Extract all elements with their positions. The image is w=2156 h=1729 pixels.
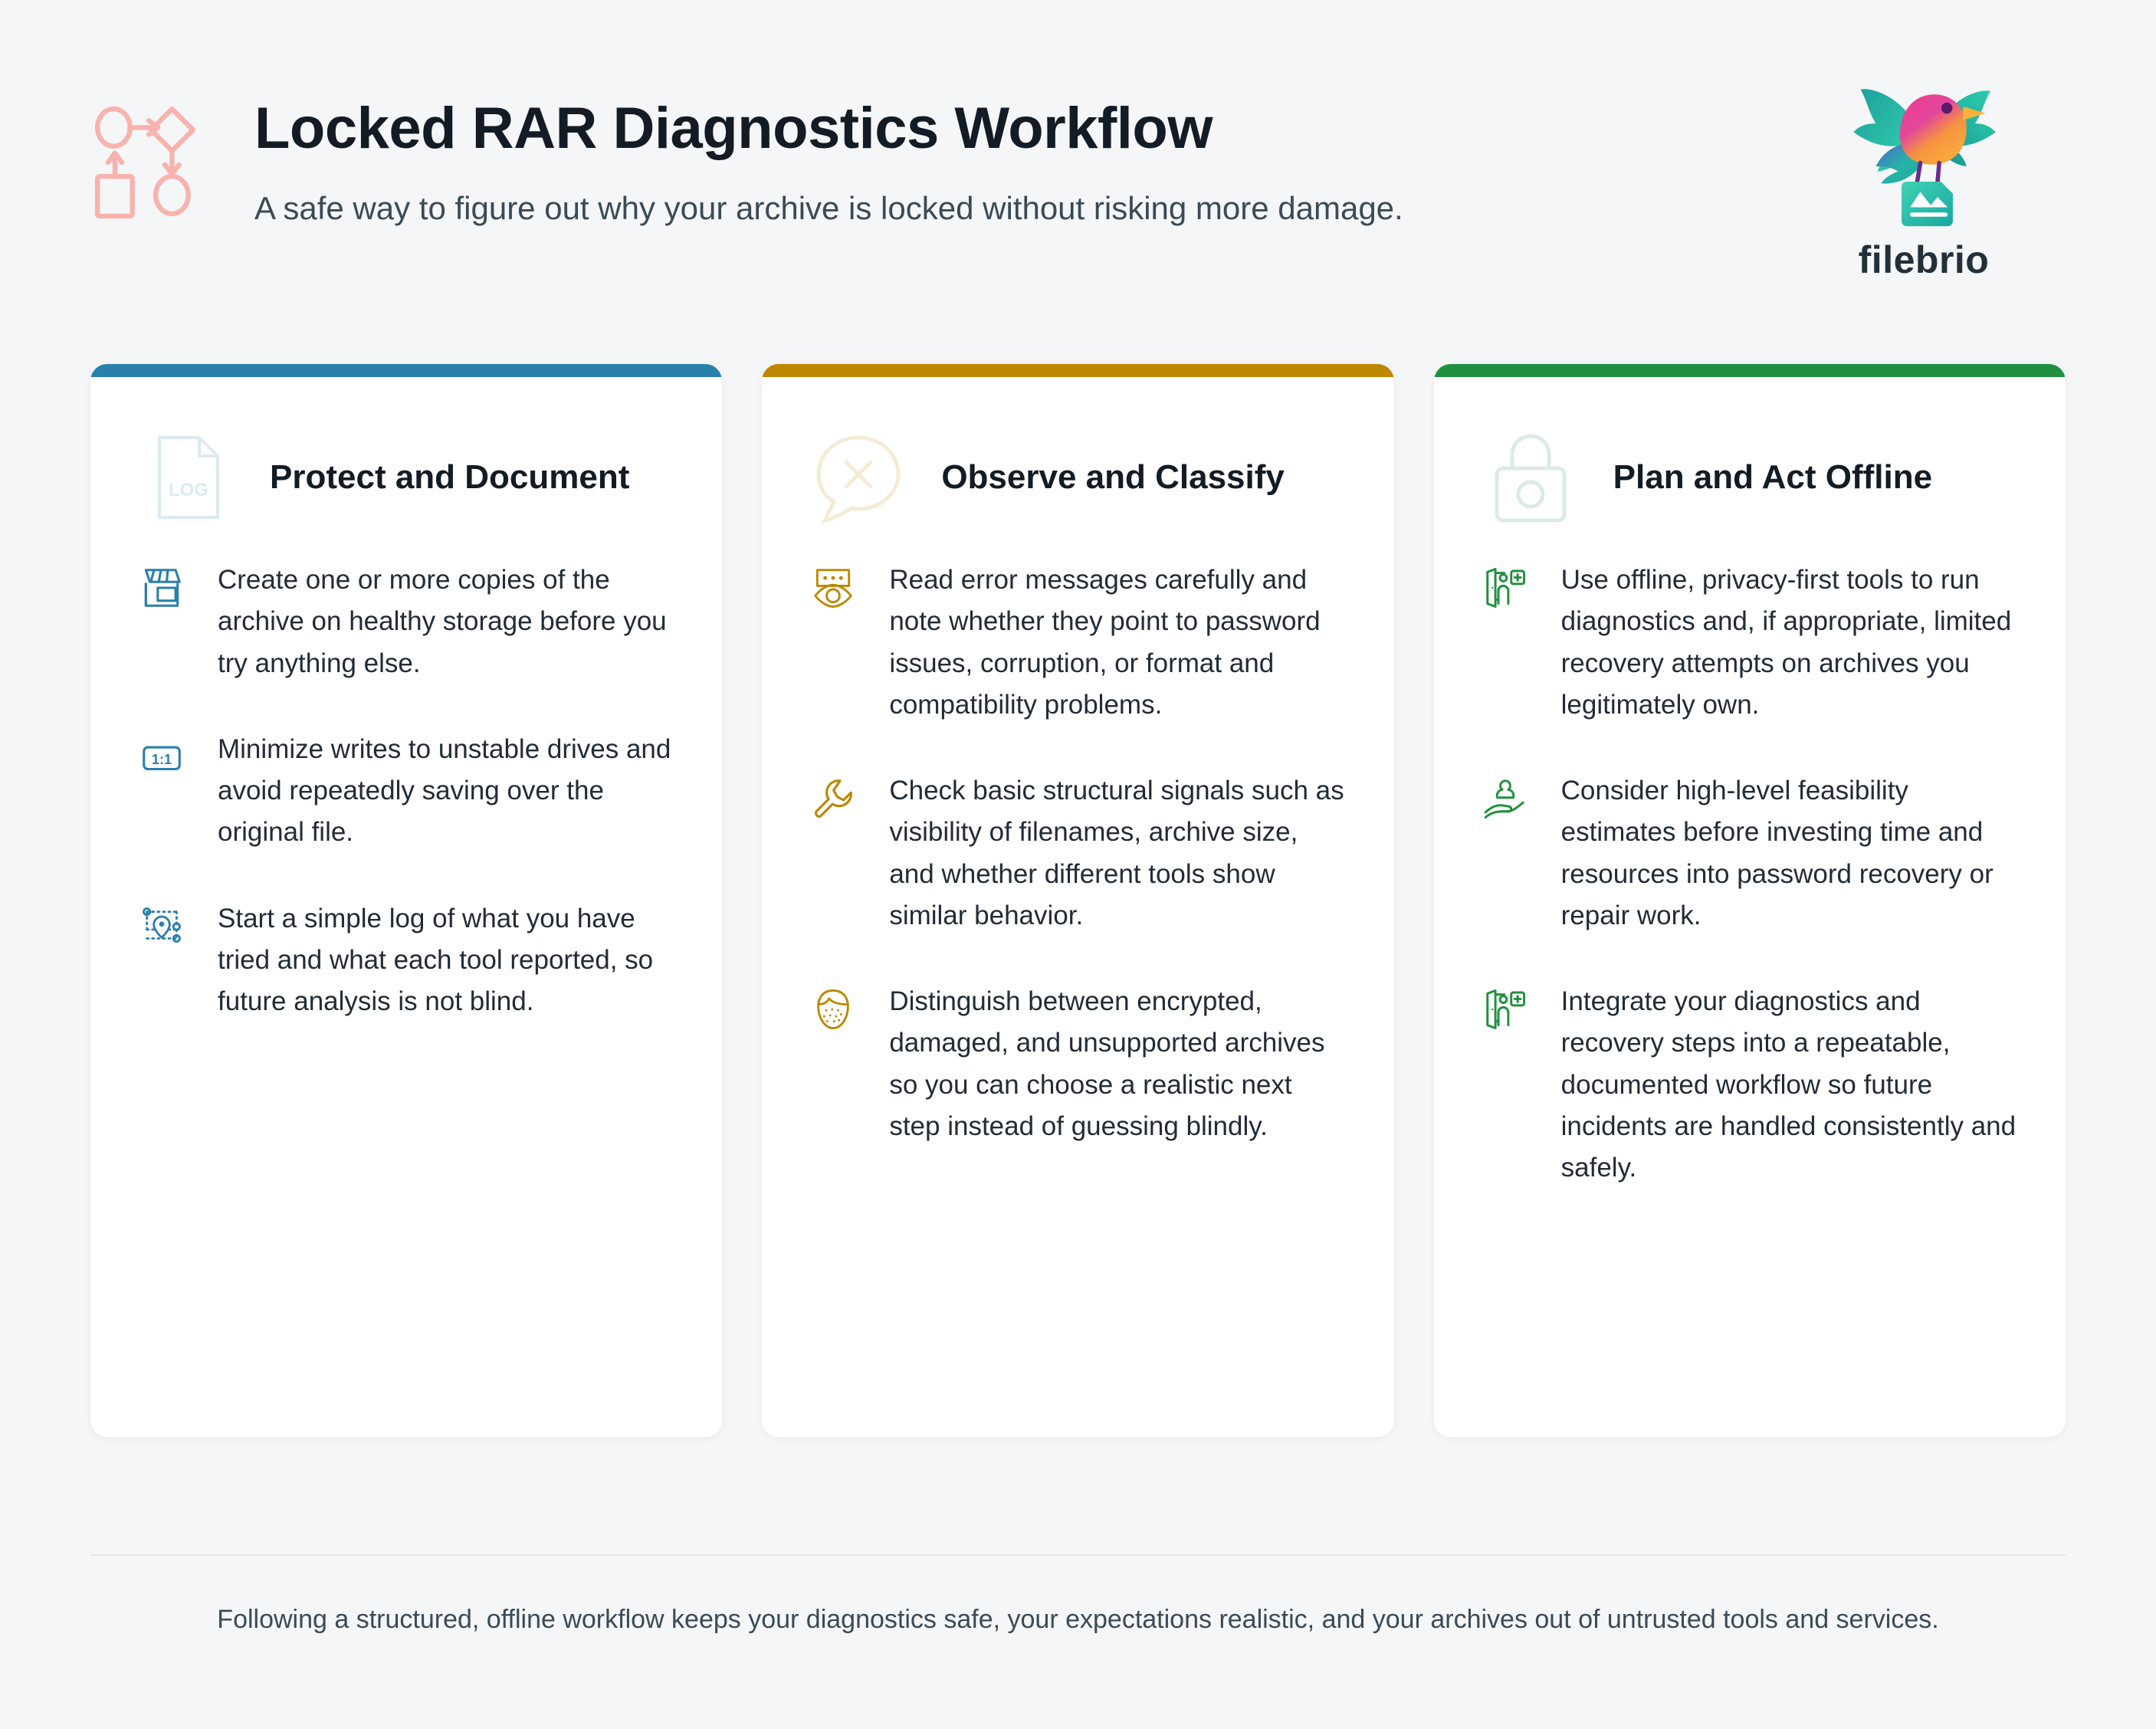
list-item-text: Create one or more copies of the archive…	[218, 559, 674, 684]
list-item-text: Integrate your diagnostics and recovery …	[1561, 981, 2018, 1189]
hand-holding-person-icon	[1482, 775, 1529, 822]
list-item: Create one or more copies of the archive…	[138, 559, 674, 684]
door-person-plus-icon	[1482, 564, 1529, 612]
storefront-archive-icon	[138, 564, 185, 612]
page-footer: Following a structured, offline workflow…	[90, 1554, 2066, 1639]
speech-bubble-error-icon	[809, 428, 907, 527]
card-accent-bar	[1434, 364, 2066, 377]
card-protect-and-document: LOG Protect and Document	[90, 364, 722, 1437]
list-item-text: Check basic structural signals such as v…	[889, 770, 1346, 937]
page-subtitle: A safe way to figure out why your archiv…	[254, 189, 2056, 229]
card-plan-and-act-offline: Plan and Act Offline	[1434, 364, 2066, 1437]
list-item: Start a simple log of what you have trie…	[138, 898, 674, 1023]
page-header: Locked RAR Diagnostics Workflow A safe w…	[0, 0, 2156, 322]
svg-text:LOG: LOG	[169, 480, 208, 500]
workflow-diagram-icon	[90, 104, 207, 221]
infographic-page: Locked RAR Diagnostics Workflow A safe w…	[0, 0, 2156, 1729]
list-item-text: Read error messages carefully and note w…	[889, 559, 1346, 726]
eye-message-icon	[809, 564, 857, 612]
svg-text:1:1: 1:1	[152, 752, 172, 767]
list-item-text: Start a simple log of what you have trie…	[218, 898, 674, 1023]
card-title: Protect and Document	[270, 458, 629, 497]
list-item: Use offline, privacy-first tools to run …	[1482, 559, 2018, 726]
brand-name: filebrio	[1859, 238, 1990, 282]
filebrio-bird-logo	[1836, 71, 2012, 233]
list-item-text: Minimize writes to unstable drives and a…	[218, 729, 674, 854]
door-person-plus-icon	[1482, 986, 1529, 1033]
header-text-block: Locked RAR Diagnostics Workflow A safe w…	[254, 90, 2056, 228]
one-to-one-ratio-icon: 1:1	[138, 733, 185, 781]
list-item: Read error messages carefully and note w…	[809, 559, 1346, 726]
speckled-face-icon	[809, 986, 857, 1033]
brand-logo: filebrio	[1805, 71, 2043, 282]
wrench-icon	[809, 775, 857, 822]
padlock-icon	[1482, 428, 1580, 527]
footer-text: Following a structured, offline workflow…	[90, 1602, 2066, 1639]
card-accent-bar	[762, 364, 1393, 377]
location-pin-path-icon	[138, 903, 185, 950]
list-item-text: Distinguish between encrypted, damaged, …	[889, 981, 1346, 1147]
page-title: Locked RAR Diagnostics Workflow	[254, 98, 2056, 159]
card-title: Plan and Act Offline	[1613, 458, 1932, 497]
card-observe-and-classify: Observe and Classify	[762, 364, 1393, 1437]
list-item: Distinguish between encrypted, damaged, …	[809, 981, 1346, 1147]
list-item: Check basic structural signals such as v…	[809, 770, 1346, 937]
cards-row: LOG Protect and Document	[0, 364, 2156, 1437]
card-title: Observe and Classify	[941, 458, 1285, 497]
card-accent-bar	[90, 364, 722, 377]
log-document-icon: LOG	[138, 428, 236, 527]
list-item: Integrate your diagnostics and recovery …	[1482, 981, 2018, 1189]
list-item-text: Consider high-level feasibility estimate…	[1561, 770, 2018, 937]
list-item-text: Use offline, privacy-first tools to run …	[1561, 559, 2018, 726]
list-item: Consider high-level feasibility estimate…	[1482, 770, 2018, 937]
list-item: 1:1 Minimize writes to unstable drives a…	[138, 729, 674, 854]
